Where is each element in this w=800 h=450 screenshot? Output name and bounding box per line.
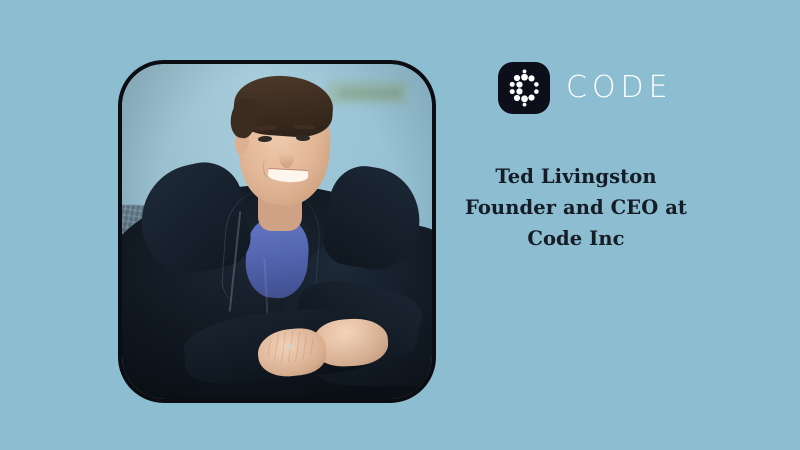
person-credit-block: Ted Livingston Founder and CEO at Code I… <box>460 162 692 254</box>
code-wordmark: CODE <box>566 73 673 103</box>
photo-subject-nose <box>279 144 295 167</box>
person-company: Code Inc <box>460 224 692 255</box>
photo-subject-eye-right <box>295 134 309 141</box>
code-dot-matrix-logo-icon <box>498 62 550 114</box>
brand-and-person-panel: CODE Ted Livingston Founder and CEO at C… <box>460 60 692 340</box>
profile-photo-image <box>122 64 432 399</box>
photo-wall-marking-secondary <box>339 88 401 99</box>
person-title: Founder and CEO at <box>460 193 692 224</box>
profile-photo-card <box>118 60 436 403</box>
brand-lockup: CODE <box>498 60 692 116</box>
person-name: Ted Livingston <box>460 162 692 193</box>
slide-canvas: CODE Ted Livingston Founder and CEO at C… <box>0 0 800 450</box>
